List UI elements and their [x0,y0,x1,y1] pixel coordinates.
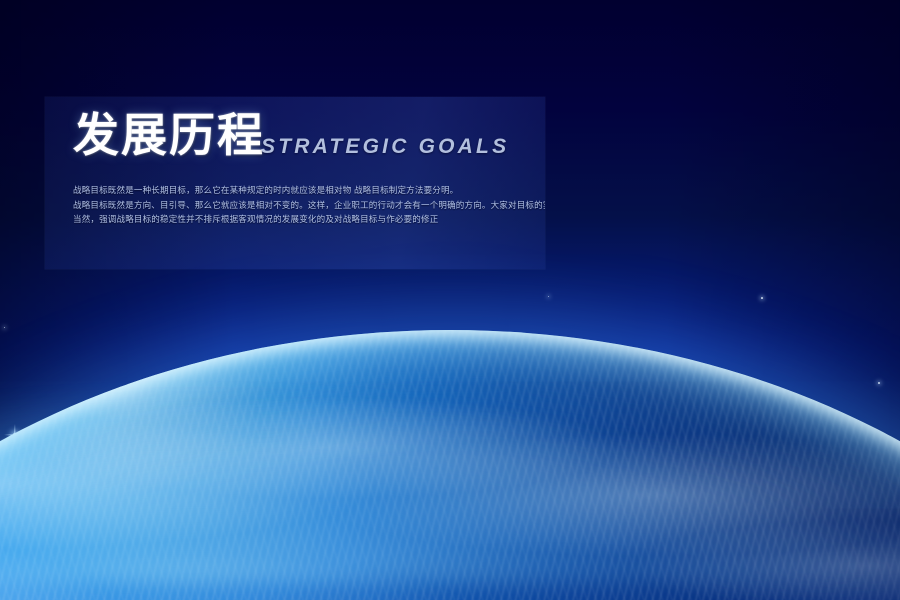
earth-globe [0,330,900,600]
headline-panel: 发展历程 STRATEGIC GOALS 战略目标既然是一种长期目标，那么它在某… [45,97,545,269]
body-copy: 战略目标既然是一种长期目标，那么它在某种规定的时内就应该是相对物 战略目标制定方… [73,183,545,227]
page-title: 发展历程 [73,113,265,159]
body-line: 战略目标既然是方向、目引导、那么它就应该是相对不变的。这样，企业职工的行动才会有… [73,198,545,213]
headline-row: 发展历程 STRATEGIC GOALS [73,113,509,159]
banner-stage: 发展历程 STRATEGIC GOALS 战略目标既然是一种长期目标，那么它在某… [0,0,900,600]
star-icon [548,296,549,297]
earth-atmosphere-rim [0,330,900,600]
body-line: 当然，强调战略目标的稳定性并不排斥根据客观情况的发展变化的及对战略目标与作必要的… [73,212,545,227]
star-icon [4,327,5,328]
body-line: 战略目标既然是一种长期目标，那么它在某种规定的时内就应该是相对物 战略目标制定方… [73,183,545,198]
page-subtitle: STRATEGIC GOALS [261,136,509,157]
star-icon [761,297,763,299]
